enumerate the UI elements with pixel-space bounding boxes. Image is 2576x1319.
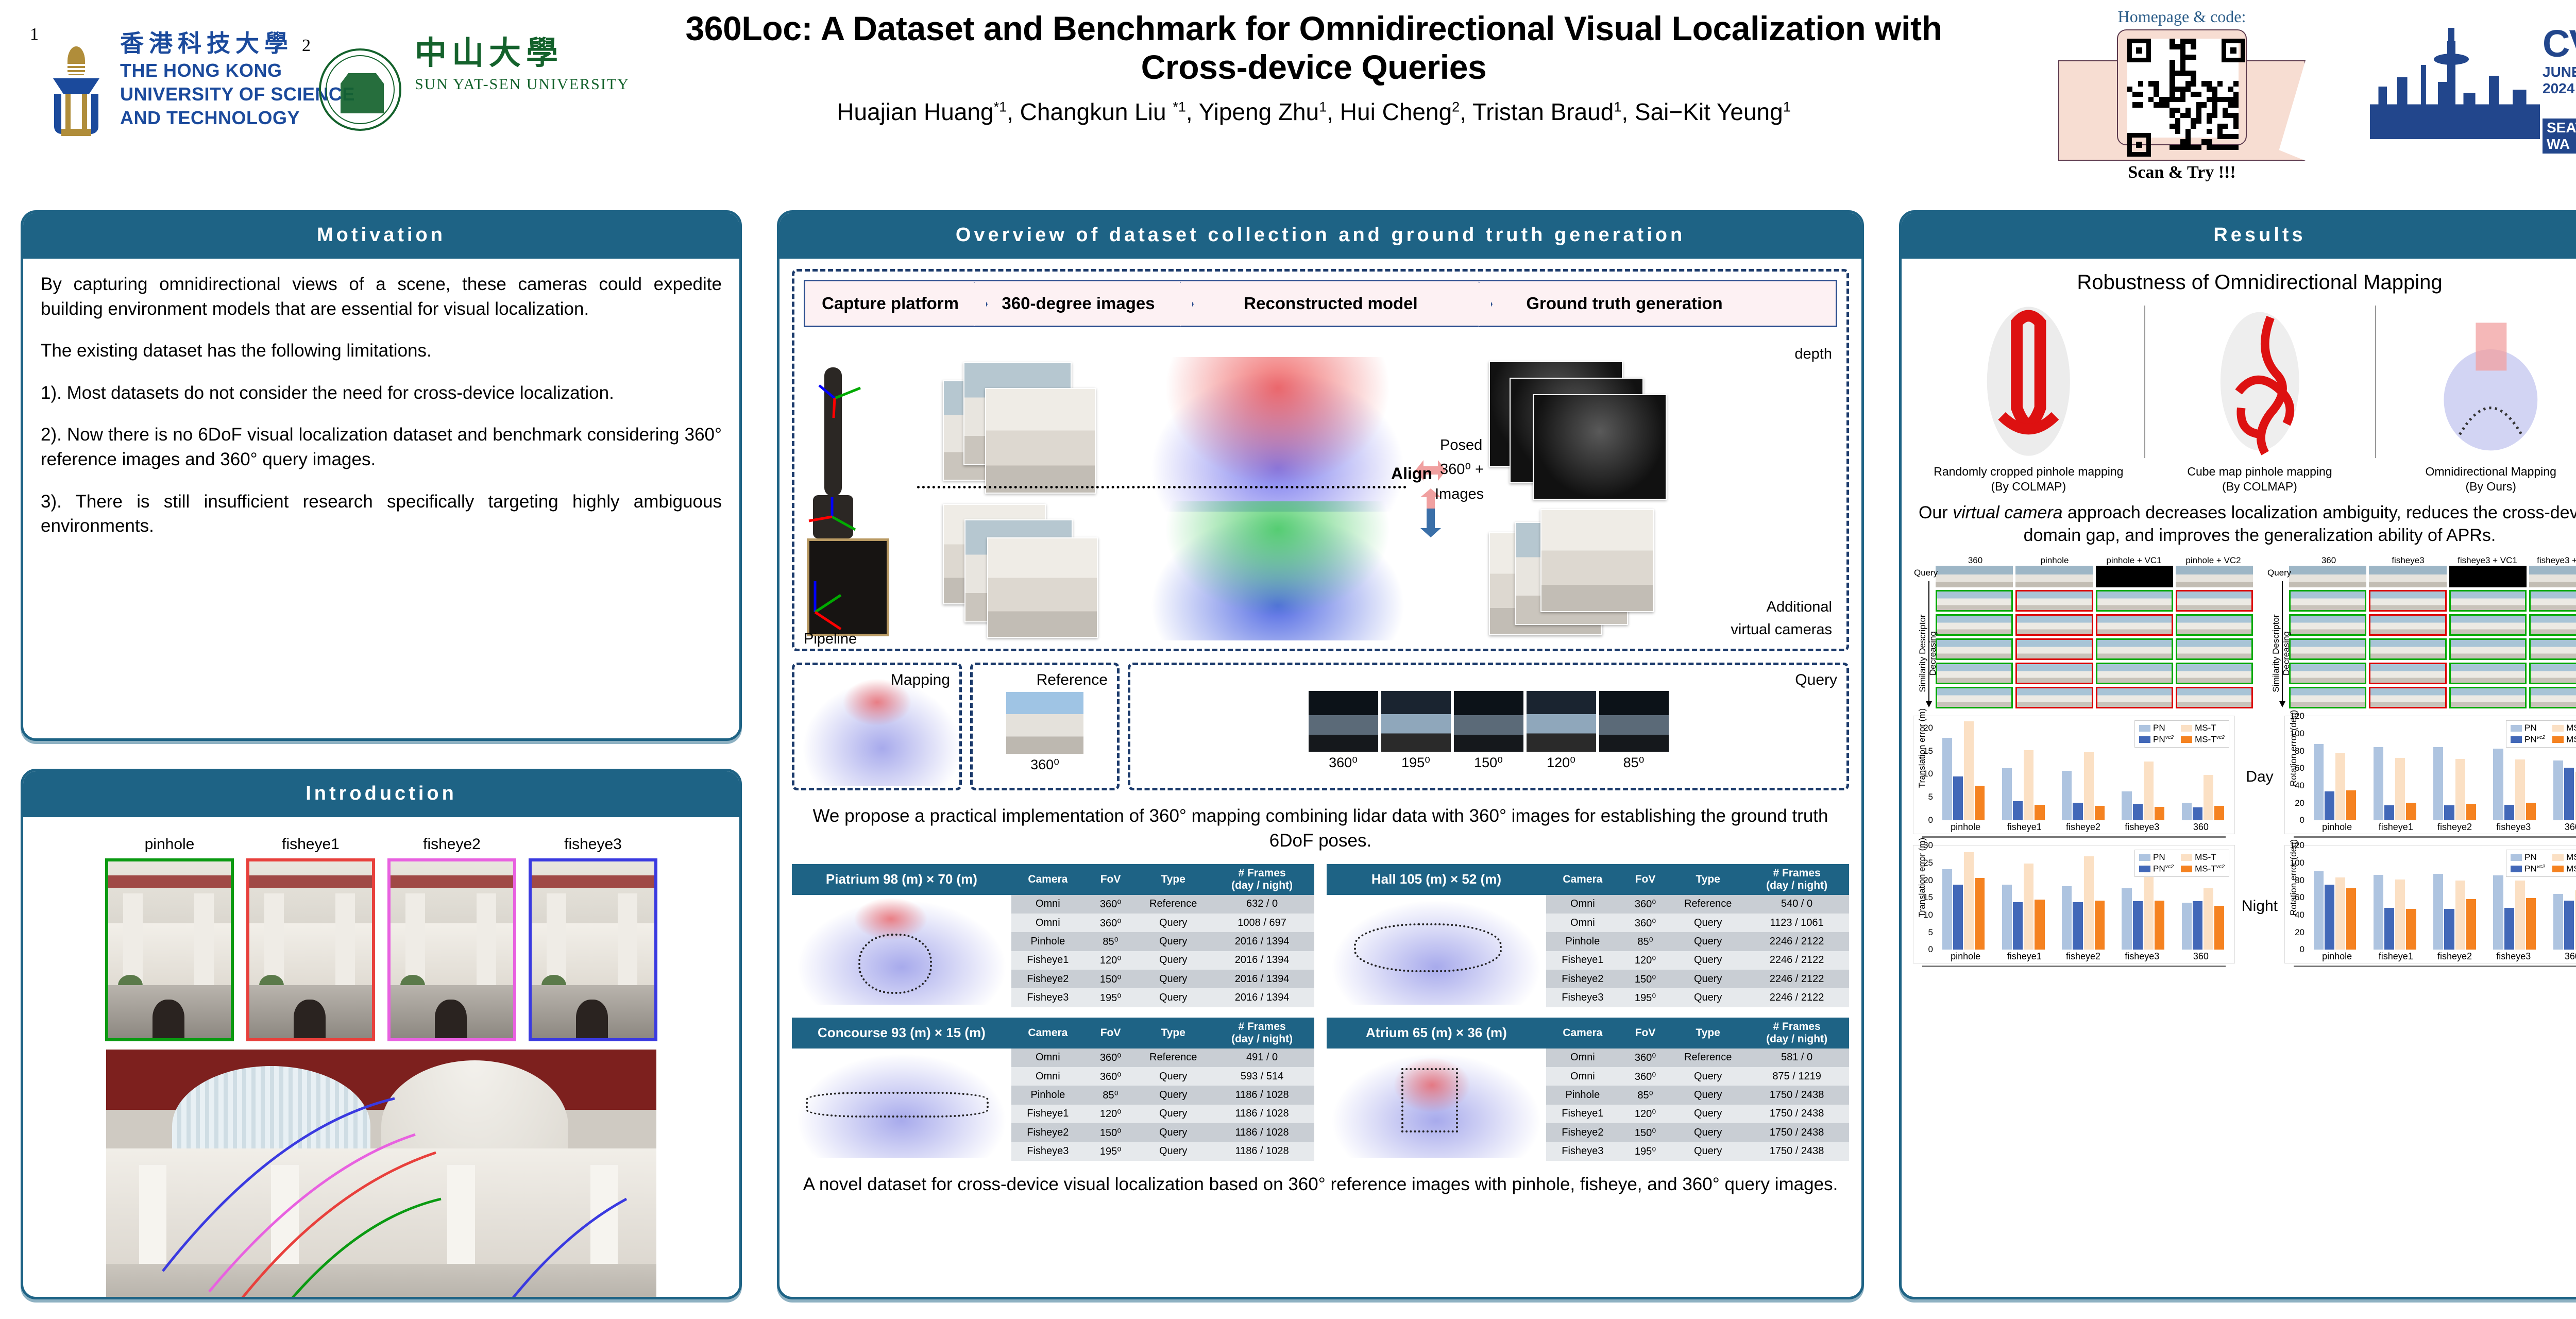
pipeline-label: Pipeline: [804, 631, 857, 648]
scene-title: Hall 105 (m) × 52 (m): [1327, 864, 1546, 895]
cell: Query: [1137, 951, 1210, 970]
cell: 360⁰: [1619, 1049, 1671, 1067]
col-camera: Camera: [1011, 1018, 1084, 1049]
robustness-image: [2144, 301, 2376, 461]
chart-bar: [1942, 869, 1952, 950]
similarity-axis-label: Similarity Descriptor Decreasing: [2271, 610, 2292, 697]
retrieved-thumb[interactable]: [2529, 663, 2576, 684]
chart-bar: [2095, 806, 2105, 820]
cell: 360⁰: [1619, 914, 1671, 932]
cell: 360⁰: [1619, 895, 1671, 914]
robustness-row: Randomly cropped pinhole mapping(By COLM…: [1913, 301, 2576, 494]
cell: 2246 / 2122: [1744, 988, 1849, 1007]
retrieved-thumb[interactable]: [2289, 663, 2366, 684]
chart-bar: [2504, 908, 2514, 950]
cell: Query: [1137, 988, 1210, 1007]
chart-bar: [2214, 806, 2224, 820]
chart-xtick: pinhole: [2308, 822, 2366, 833]
grid-header: 360: [2289, 555, 2368, 566]
results-subheading: Robustness of Omnidirectional Mapping: [1913, 271, 2576, 294]
cell: Reference: [1137, 1049, 1210, 1067]
chart-bar: [2553, 760, 2563, 820]
table-row: Omni360⁰Reference581 / 0: [1327, 1049, 1849, 1067]
scene-map-cell: [1327, 895, 1546, 1007]
scene-map-cell: [1327, 1049, 1546, 1161]
chart-bar: [2335, 877, 2345, 950]
retrieved-thumb[interactable]: [2096, 663, 2173, 684]
cell: Fisheye3: [1546, 1142, 1619, 1160]
cell: 150⁰: [1619, 970, 1671, 988]
chart-bar: [2133, 804, 2143, 820]
col-frames: # Frames(day / night): [1210, 1018, 1314, 1049]
grid-column: [2369, 566, 2446, 708]
qr-label: Homepage & code:: [2048, 7, 2316, 26]
grid-header: 360: [1936, 555, 2015, 566]
chart-ytick: 15: [1923, 746, 1933, 756]
chart-bar: [1975, 878, 1985, 950]
col-frames: # Frames(day / night): [1210, 864, 1314, 895]
cell: Omni: [1011, 1049, 1084, 1067]
cvpr-date: JUNE 17-21, 2024: [2543, 64, 2576, 97]
query-thumb: [2015, 566, 2093, 587]
cell: Query: [1137, 1067, 1210, 1086]
chart-bar: [2002, 768, 2012, 821]
grid-column: [2289, 566, 2366, 708]
posed-label-1: Posed: [1440, 437, 1482, 454]
chart-bar-group: [1996, 850, 2050, 950]
chart-legend-item: MS-T: [2552, 852, 2576, 863]
chart-day-translation: Translation error (m)05101520pinholefish…: [1913, 716, 2235, 838]
cell: Fisheye1: [1011, 1105, 1084, 1123]
retrieved-thumb[interactable]: [2176, 638, 2253, 660]
chart-xtick: fisheye3: [2484, 822, 2543, 833]
retrieved-thumb[interactable]: [2015, 687, 2093, 708]
retrieved-thumb[interactable]: [2369, 687, 2446, 708]
night-label: Night: [2235, 898, 2284, 915]
cell: Query: [1137, 1105, 1210, 1123]
cell: Fisheye3: [1011, 988, 1084, 1007]
retrieval-grids: 360pinholepinhole + VC1pinhole + VC2Quer…: [1913, 555, 2576, 708]
chart-xtick: fisheye2: [2054, 951, 2112, 962]
retrieved-thumb[interactable]: [2096, 638, 2173, 660]
chart-ytick: 20: [1923, 723, 1933, 733]
chart-bar: [2553, 894, 2563, 950]
chart-ytick: 100: [2290, 729, 2304, 739]
retrieved-thumb[interactable]: [2289, 590, 2366, 612]
cell: 1186 / 1028: [1210, 1086, 1314, 1104]
affiliation-1-marker: 1: [30, 25, 39, 44]
chart-bar: [2182, 803, 2192, 820]
retrieved-thumb[interactable]: [1936, 590, 2013, 612]
scene-title: Piatrium 98 (m) × 70 (m): [792, 864, 1011, 895]
retrieved-thumb[interactable]: [2015, 638, 2093, 660]
retrieved-thumb[interactable]: [2176, 687, 2253, 708]
chart-legend-item: PNvc2: [2511, 864, 2545, 874]
cell: 491 / 0: [1210, 1049, 1314, 1067]
cell: 875 / 1219: [1744, 1067, 1849, 1086]
chart-legend-item: MS-Tvc2: [2181, 864, 2225, 874]
chart-bar: [2515, 881, 2525, 950]
col-type: Type: [1671, 864, 1744, 895]
cell: 1008 / 697: [1210, 914, 1314, 932]
chart-bar: [2084, 856, 2094, 950]
motivation-heading: Motivation: [23, 213, 739, 259]
pipeline-stage-2: 360-degree images: [975, 281, 1181, 326]
chart-legend: PNMS-TPNvc2MS-Tvc2: [2506, 720, 2576, 748]
retrieved-thumb[interactable]: [2529, 590, 2576, 612]
cell: Query: [1671, 988, 1744, 1007]
camera-sample-label: fisheye3: [529, 836, 657, 853]
cell: 120⁰: [1084, 1105, 1137, 1123]
table-row: Omni360⁰Reference491 / 0: [792, 1049, 1314, 1067]
chart-legend-item: PN: [2511, 852, 2545, 863]
retrieved-thumb[interactable]: [1936, 614, 2013, 636]
cell: 2016 / 1394: [1210, 932, 1314, 951]
query-sample-image: [1309, 691, 1378, 752]
cell: 1750 / 2438: [1744, 1142, 1849, 1160]
chart-bar: [2062, 886, 2072, 950]
cell: 150⁰: [1084, 1123, 1137, 1142]
chart-ytick: 0: [2300, 815, 2304, 825]
retrieved-thumb[interactable]: [2289, 687, 2366, 708]
col-fov: FoV: [1084, 864, 1137, 895]
chart-legend-item: PNvc2: [2139, 734, 2174, 745]
robustness-caption: Omnidirectional Mapping(By Ours): [2375, 464, 2576, 494]
cell: 1750 / 2438: [1744, 1086, 1849, 1104]
motivation-paragraph: 3). There is still insufficient research…: [41, 489, 722, 538]
retrieved-thumb[interactable]: [2176, 614, 2253, 636]
chart-legend-item: PNvc2: [2139, 864, 2174, 874]
query-sample-fov: 120⁰: [1527, 755, 1596, 771]
retrieved-thumb[interactable]: [1936, 638, 2013, 660]
col-type: Type: [1137, 864, 1210, 895]
retrieved-thumb[interactable]: [1936, 663, 2013, 684]
cell: Query: [1137, 1086, 1210, 1104]
chart-legend-item: MS-T: [2181, 852, 2225, 863]
query-sample-1: 195⁰: [1381, 691, 1451, 771]
cell: Omni: [1546, 1067, 1619, 1086]
query-sample-fov: 150⁰: [1454, 755, 1523, 771]
query-sample-image: [1599, 691, 1669, 752]
chart-ytick: 20: [2295, 798, 2304, 808]
robustness-col-1: Randomly cropped pinhole mapping(By COLM…: [1913, 301, 2144, 494]
chart-bar: [2526, 898, 2536, 950]
chart-legend-item: MS-T: [2552, 723, 2576, 733]
cell: Fisheye2: [1011, 970, 1084, 988]
scene-title: Atrium 65 (m) × 36 (m): [1327, 1018, 1546, 1049]
chart-xtick: fisheye3: [2113, 951, 2172, 962]
query-sample-fov: 360⁰: [1309, 755, 1378, 771]
cell: 1186 / 1028: [1210, 1123, 1314, 1142]
cell: Query: [1671, 1105, 1744, 1123]
scene-map-image: [1328, 898, 1545, 1005]
chart-bar: [2504, 805, 2514, 821]
query-row-label: Query: [2267, 568, 2291, 578]
grid-header: fisheye3: [2368, 555, 2448, 566]
pipeline-stage-3: Reconstructed model: [1181, 281, 1480, 326]
chart-xtick: fisheye2: [2425, 822, 2484, 833]
retrieved-thumb[interactable]: [2449, 687, 2527, 708]
page-title: 360Loc: A Dataset and Benchmark for Omni…: [639, 9, 1989, 87]
res-concl-pre: Our: [1919, 503, 1953, 522]
chart-night-translation: Translation error (m)051015202530pinhole…: [1913, 845, 2235, 967]
chart-legend: PNMS-TPNvc2MS-Tvc2: [2506, 850, 2576, 877]
retrieved-thumb[interactable]: [2096, 687, 2173, 708]
chart-ytick: 120: [2290, 711, 2304, 721]
retrieved-thumb[interactable]: [2369, 663, 2446, 684]
query-label: Query: [1795, 671, 1837, 689]
motivation-paragraph: By capturing omnidirectional views of a …: [41, 272, 722, 321]
chart-legend: PNMS-TPNvc2MS-Tvc2: [2134, 720, 2229, 748]
chart-bar: [2466, 804, 2476, 820]
cell: Query: [1671, 1067, 1744, 1086]
align-label: Align: [1391, 464, 1432, 483]
pipeline-stage-4: Ground truth generation: [1480, 281, 1769, 326]
chart-yticks: 051015202530: [1913, 845, 1935, 950]
cell: 2246 / 2122: [1744, 970, 1849, 988]
chart-ytick: 10: [1923, 769, 1933, 779]
chart-bar: [2024, 864, 2033, 950]
chart-bar: [2204, 888, 2213, 950]
cell: Fisheye2: [1011, 1123, 1084, 1142]
cell: 2016 / 1394: [1210, 951, 1314, 970]
retrieved-thumb[interactable]: [2015, 590, 2093, 612]
query-box: Query 360⁰195⁰150⁰120⁰85⁰: [1128, 663, 1849, 790]
chart-bar: [2073, 902, 2082, 950]
cvpr-name: CVPR: [2543, 26, 2576, 62]
chart-bar-group: [2308, 850, 2362, 950]
camera-sample-image: [105, 858, 234, 1041]
scene-map-image: [1328, 1051, 1545, 1158]
pipeline-dashed-box: Capture platform360-degree imagesReconst…: [792, 269, 1849, 651]
chart-xtick: 360: [2172, 951, 2230, 962]
retrieved-thumb[interactable]: [2529, 614, 2576, 636]
cell: 360⁰: [1619, 1067, 1671, 1086]
chart-bar-group: [2367, 720, 2422, 820]
col-fov: FoV: [1619, 864, 1671, 895]
retrieved-thumb[interactable]: [2176, 663, 2253, 684]
chart-ytick: 0: [1928, 815, 1933, 825]
col-fov: FoV: [1619, 1018, 1671, 1049]
query-sample-3: 120⁰: [1527, 691, 1596, 771]
chart-yticks: 020406080100120: [2285, 716, 2307, 820]
retrieved-thumb[interactable]: [2096, 614, 2173, 636]
cell: Pinhole: [1011, 932, 1084, 951]
chart-xticks: pinholefisheye1fisheye2fisheye3360: [1936, 822, 2230, 833]
cell: Omni: [1546, 914, 1619, 932]
chart-xtick: fisheye2: [2054, 822, 2112, 833]
cell: 195⁰: [1084, 1142, 1137, 1160]
chart-bar-group: [2308, 720, 2362, 820]
poster-header: 1 香港科技大學 THE HONG KONG UNIVERSITY OF SCI…: [0, 0, 2576, 193]
chart-bar: [2062, 771, 2072, 821]
chart-xticks: pinholefisheye1fisheye2fisheye3360: [2308, 822, 2576, 833]
retrieved-thumb[interactable]: [2449, 614, 2527, 636]
chart-night-rotation: Rotation error (deg)020406080100120pinho…: [2284, 845, 2576, 967]
depth-label: depth: [1794, 346, 1832, 363]
panel-overview: Overview of dataset collection and groun…: [777, 210, 1864, 1299]
query-thumb: [2176, 566, 2253, 587]
cell: Omni: [1011, 1067, 1084, 1086]
chart-ytick: 60: [2295, 892, 2304, 903]
cell: 593 / 514: [1210, 1067, 1314, 1086]
cell: 1186 / 1028: [1210, 1142, 1314, 1160]
retrieved-thumb[interactable]: [2369, 614, 2446, 636]
chart-bar-group: [2427, 720, 2482, 820]
cell: 360⁰: [1084, 895, 1137, 914]
chart-ytick: 80: [2295, 875, 2304, 886]
retrieved-thumb[interactable]: [2449, 663, 2527, 684]
cell: Pinhole: [1546, 1086, 1619, 1104]
cell: 2246 / 2122: [1744, 951, 1849, 970]
chart-bar: [2002, 885, 2012, 950]
retrieved-thumb[interactable]: [2015, 663, 2093, 684]
table-row: Omni360⁰Reference540 / 0: [1327, 895, 1849, 914]
grid-column: [2176, 566, 2253, 708]
cell: Query: [1671, 932, 1744, 951]
grid-headers: 360fisheye3fisheye3 + VC1fisheye3 + VC2: [2289, 555, 2576, 566]
cvpr-logo: CVPR JUNE 17-21, 2024 SEATTLE, WA: [2370, 15, 2576, 149]
chart-yticks: 020406080100120: [2285, 845, 2307, 950]
chart-xtick: fisheye1: [2366, 951, 2425, 962]
chart-bar: [2335, 753, 2345, 820]
cell: Pinhole: [1546, 932, 1619, 951]
chart-plot-area: Translation error (m)05101520pinholefish…: [1913, 716, 2235, 834]
retrieved-thumb[interactable]: [2529, 687, 2576, 708]
overview-bottom-text: A novel dataset for cross-device visual …: [792, 1172, 1849, 1197]
chart-bar: [2444, 909, 2454, 950]
camera-sample-image: [246, 858, 375, 1041]
retrieved-thumb[interactable]: [2289, 614, 2366, 636]
chart-yticks: 05101520: [1913, 716, 1935, 820]
chart-bar: [2406, 909, 2416, 950]
col-frames: # Frames(day / night): [1744, 1018, 1849, 1049]
robustness-col-3: Omnidirectional Mapping(By Ours): [2375, 301, 2576, 494]
retrieved-thumb[interactable]: [2369, 590, 2446, 612]
author-list: Huajian Huang*1, Changkun Liu *1, Yipeng…: [639, 98, 1989, 126]
chart-xtick: fisheye2: [2425, 951, 2484, 962]
results-conclusion: Our virtual camera approach decreases lo…: [1913, 501, 2576, 548]
col-type: Type: [1671, 1018, 1744, 1049]
cell: 632 / 0: [1210, 895, 1314, 914]
cell: Query: [1671, 914, 1744, 932]
chart-ytick: 5: [1928, 792, 1933, 802]
chart-bar: [2122, 791, 2131, 820]
motivation-body: By capturing omnidirectional views of a …: [23, 259, 739, 552]
qr-code-icon[interactable]: [2127, 39, 2239, 138]
col-camera: Camera: [1546, 1018, 1619, 1049]
chart-ytick: 15: [1923, 892, 1933, 903]
additional-label-1: Additional: [1767, 599, 1832, 616]
retrieved-thumb[interactable]: [2096, 590, 2173, 612]
reference-image: [1006, 692, 1083, 754]
cell: 85⁰: [1619, 932, 1671, 951]
chart-bar: [2406, 803, 2416, 820]
retrieved-thumb[interactable]: [2369, 638, 2446, 660]
scene-tables-grid: Piatrium 98 (m) × 70 (m)CameraFoVType# F…: [792, 864, 1849, 1161]
retrieved-thumb[interactable]: [2449, 590, 2527, 612]
chart-legend-item: PN: [2139, 852, 2174, 863]
motivation-paragraph: The existing dataset has the following l…: [41, 339, 722, 363]
cell: 150⁰: [1084, 970, 1137, 988]
sample-sets-row: Mapping Reference 360⁰ Query 360⁰195⁰150…: [792, 663, 1849, 790]
overview-body: Capture platform360-degree imagesReconst…: [779, 259, 1861, 1207]
chart-bar: [2493, 875, 2503, 950]
grid-header: fisheye3 + VC2: [2527, 555, 2576, 566]
scene-table: Piatrium 98 (m) × 70 (m)CameraFoVType# F…: [792, 864, 1314, 1007]
qr-caption: Scan & Try !!!: [2048, 163, 2316, 182]
panel-introduction: Introduction pinholefisheye1fisheye2fish…: [21, 769, 742, 1299]
sysu-name-cn: 中山大學: [415, 36, 630, 70]
retrieved-thumb[interactable]: [2176, 590, 2253, 612]
cell: 540 / 0: [1744, 895, 1849, 914]
scene-map-cell: [792, 1049, 1011, 1161]
cell: Query: [1137, 914, 1210, 932]
cell: 120⁰: [1619, 1105, 1671, 1123]
query-thumb: [2096, 566, 2173, 587]
cell: Fisheye3: [1546, 988, 1619, 1007]
panel-motivation: Motivation By capturing omnidirectional …: [21, 210, 742, 741]
query-sample-image: [1454, 691, 1523, 752]
grid-header: fisheye3 + VC1: [2448, 555, 2527, 566]
grid-column: [2449, 566, 2527, 708]
chart-bar: [1975, 786, 1985, 820]
grid-column: [2096, 566, 2173, 708]
chart-plot-area: Translation error (m)051015202530pinhole…: [1913, 845, 2235, 963]
cell: 120⁰: [1084, 951, 1137, 970]
cell: 2016 / 1394: [1210, 988, 1314, 1007]
retrieval-grid-left: 360pinholepinhole + VC1pinhole + VC2Quer…: [1913, 555, 2253, 708]
chart-xticks: pinholefisheye1fisheye2fisheye3360: [1936, 951, 2230, 962]
cell: Fisheye1: [1546, 1105, 1619, 1123]
query-thumb: [1936, 566, 2013, 587]
chart-ytick: 20: [1923, 875, 1933, 886]
chart-bar: [2466, 899, 2476, 950]
cell: 85⁰: [1084, 932, 1137, 951]
table-row: Omni360⁰Reference632 / 0: [792, 895, 1314, 914]
chart-xtick: pinhole: [1936, 822, 1995, 833]
grid-headers: 360pinholepinhole + VC1pinhole + VC2: [1936, 555, 2253, 566]
chart-plot-area: Rotation error (deg)020406080100120pinho…: [2284, 716, 2576, 834]
retrieved-thumb[interactable]: [2529, 638, 2576, 660]
retrieved-thumb[interactable]: [2449, 638, 2527, 660]
chart-xtick: pinhole: [1936, 951, 1995, 962]
similarity-axis: QuerySimilarity Descriptor Decreasing: [2266, 566, 2289, 708]
query-sample-0: 360⁰: [1309, 691, 1378, 771]
chart-xtick: fisheye1: [1995, 951, 2054, 962]
cell: Reference: [1671, 1049, 1744, 1067]
cell: Fisheye1: [1546, 951, 1619, 970]
cell: Fisheye3: [1011, 1142, 1084, 1160]
query-sample-image: [1527, 691, 1596, 752]
retrieved-thumb[interactable]: [1936, 687, 2013, 708]
grid-column: [1936, 566, 2013, 708]
retrieved-thumb[interactable]: [2289, 638, 2366, 660]
robustness-caption: Cube map pinhole mapping(By COLMAP): [2144, 464, 2376, 494]
sysu-logo: 2 中山大學 SUN YAT-SEN UNIVERSITY: [302, 36, 630, 131]
col-camera: Camera: [1546, 864, 1619, 895]
chart-bar: [2073, 803, 2082, 820]
chart-bar: [2013, 801, 2023, 820]
retrieved-thumb[interactable]: [2015, 614, 2093, 636]
cell: 1750 / 2438: [1744, 1123, 1849, 1142]
query-thumb: [2449, 566, 2527, 587]
cell: 150⁰: [1619, 1123, 1671, 1142]
chart-legend-item: PNvc2: [2511, 734, 2545, 745]
grid-header: pinhole + VC1: [2094, 555, 2174, 566]
chart-bar: [2204, 775, 2213, 820]
panel-results: Results Robustness of Omnidirectional Ma…: [1899, 210, 2576, 1299]
